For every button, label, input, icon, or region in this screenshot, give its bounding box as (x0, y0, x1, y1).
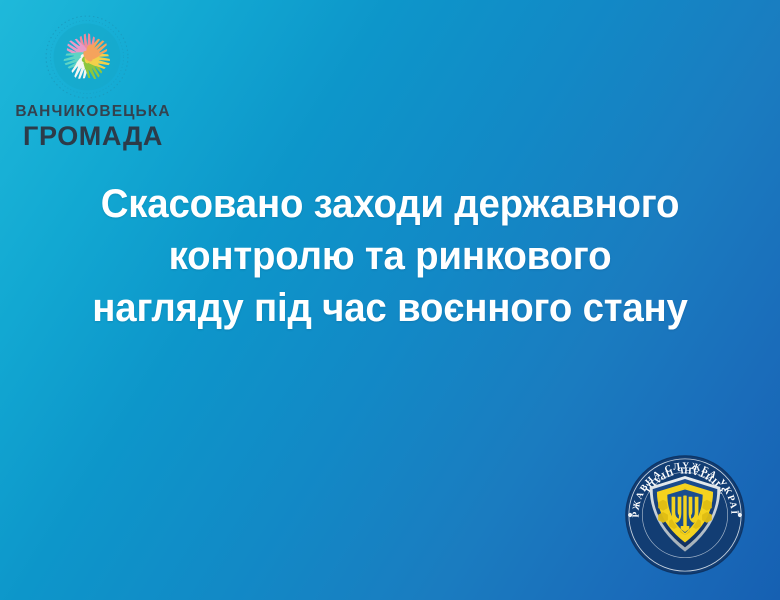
community-logo: ВАНЧИКОВЕЦЬКА ГРОМАДА (8, 8, 178, 148)
headline-line-3: нагляду під час воєнного стану (16, 282, 765, 334)
headline: Скасовано заходи державного контролю та … (16, 178, 765, 334)
community-wordmark: ВАНЧИКОВЕЦЬКА ГРОМАДА (8, 104, 178, 150)
slide-canvas: ВАНЧИКОВЕЦЬКА ГРОМАДА Скасовано заходи д… (0, 0, 780, 600)
headline-line-1: Скасовано заходи державного (16, 178, 765, 230)
hands-circle-icon (43, 13, 131, 101)
state-labour-service-emblem: ДЕРЖАВНА СЛУЖБА УКРАЇНИ З ПИТАНЬ ПРАЦІ (624, 454, 746, 576)
community-name-line2: ГРОМАДА (8, 123, 178, 150)
headline-line-2: контролю та ринкового (16, 230, 765, 282)
community-name-line1: ВАНЧИКОВЕЦЬКА (8, 104, 178, 120)
